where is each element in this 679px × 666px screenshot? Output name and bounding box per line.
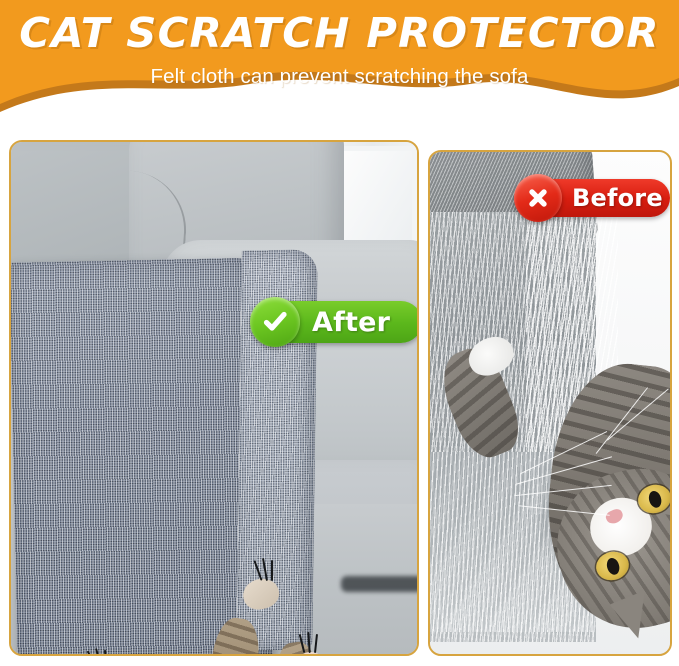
page-title: CAT SCRATCH PROTECTOR: [0, 0, 679, 54]
before-panel: Before: [428, 150, 672, 656]
floor-shadow: [341, 576, 417, 592]
before-badge: Before: [518, 179, 670, 217]
page-subtitle: Felt cloth can prevent scratching the so…: [0, 54, 679, 88]
after-badge: After: [254, 301, 419, 343]
before-photo-image: [430, 152, 670, 654]
product-infographic: CAT SCRATCH PROTECTOR Felt cloth can pre…: [0, 0, 679, 666]
claw-icon: [271, 560, 273, 581]
after-panel: After: [9, 140, 419, 656]
scratch-protector-mat: [11, 257, 273, 654]
after-badge-label: After: [312, 307, 390, 338]
check-icon: [250, 297, 300, 347]
cross-icon: [514, 174, 562, 222]
before-badge-label: Before: [572, 184, 663, 212]
cross-glyph: [524, 184, 552, 212]
header-banner: CAT SCRATCH PROTECTOR Felt cloth can pre…: [0, 0, 679, 126]
check-glyph: [260, 307, 290, 337]
after-photo-image: [11, 142, 417, 654]
